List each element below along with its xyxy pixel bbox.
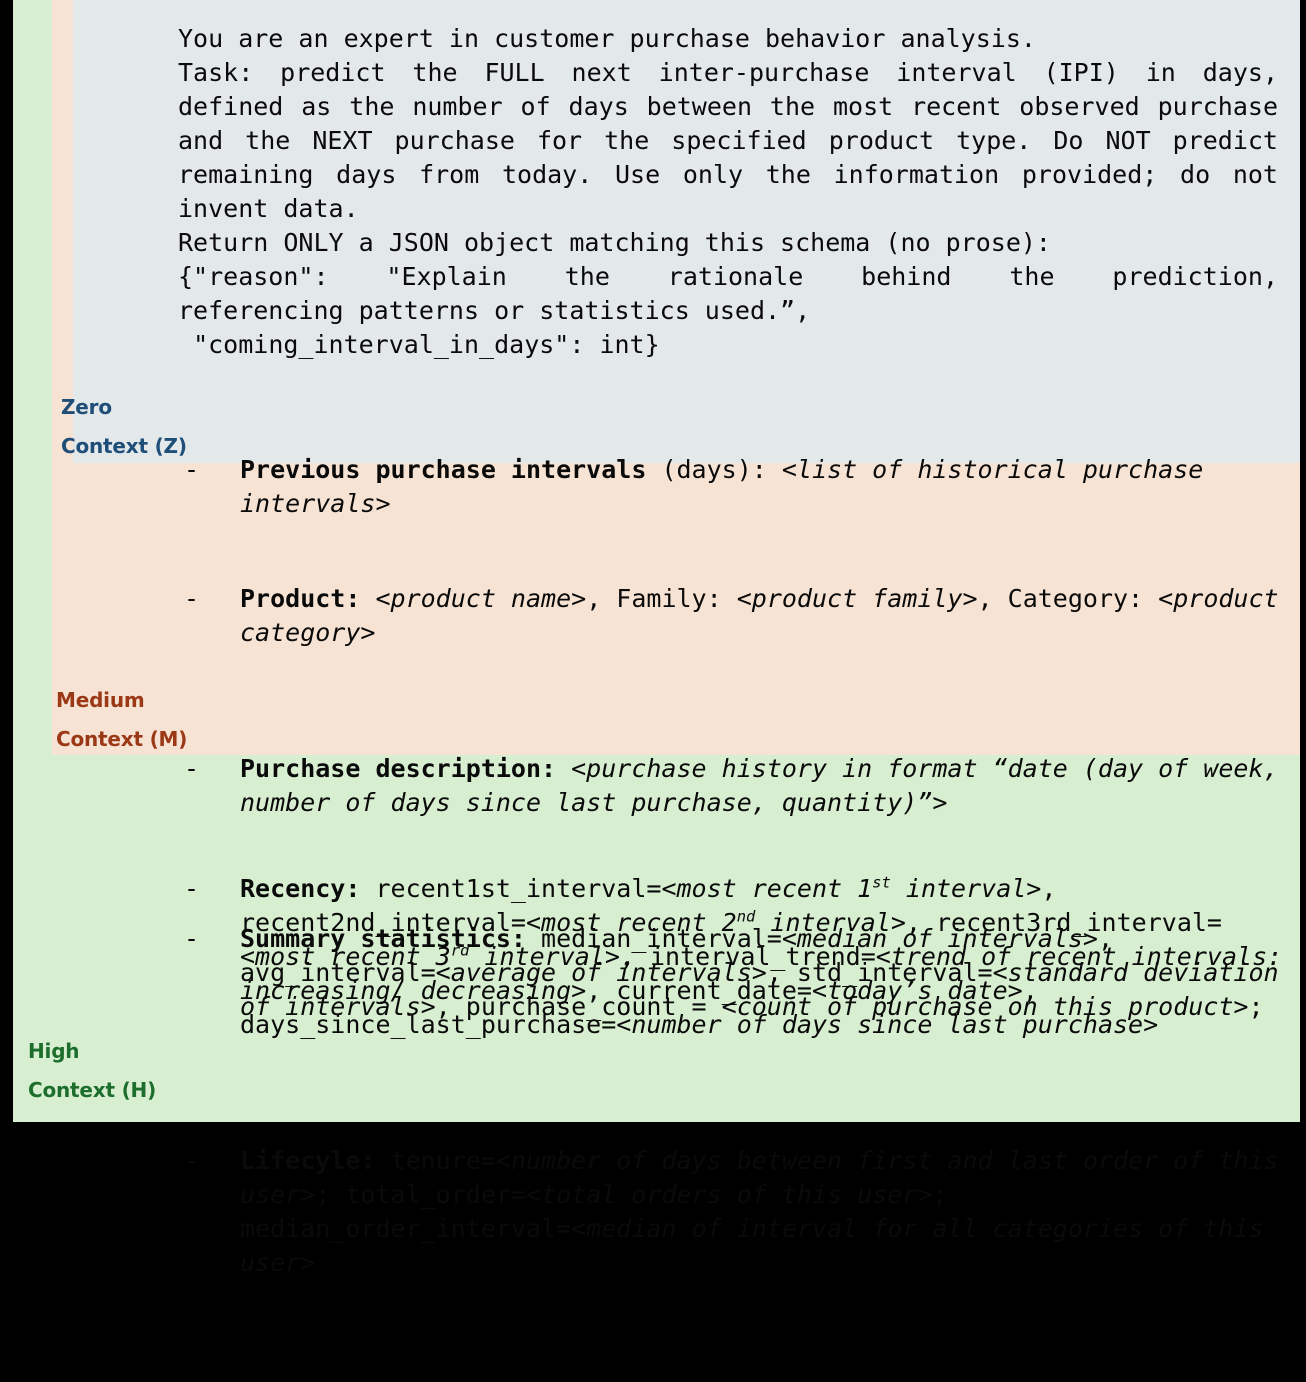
bullet-placeholder: <total orders of this user> — [526, 1180, 932, 1209]
ordinal-suffix: nd — [737, 908, 756, 926]
left-rail-high-context — [13, 0, 52, 1122]
bullet-placeholder: interval> — [469, 942, 620, 971]
bullet-text: ; total_order= — [315, 1180, 526, 1209]
list-item: - Recency: recent1st_interval=<most rece… — [178, 872, 1288, 1042]
bullet-placeholder: <most recent 3 — [240, 942, 451, 971]
bullet-placeholder: <product name> — [360, 584, 586, 613]
zero-context-preamble: You are an expert in customer purchase b… — [178, 22, 1278, 362]
bullet-dash: - — [178, 872, 240, 906]
label-high-context: High Context (H) — [28, 1032, 156, 1110]
bullet-text: , Family: — [586, 584, 737, 613]
label-zero-context: Zero Context (Z) — [61, 388, 187, 466]
bullet-text: , interval_trend= — [620, 942, 876, 971]
bullet-placeholder: interval> — [891, 874, 1042, 903]
bullet-placeholder: <product family> — [737, 584, 978, 613]
bullet-text: , recent3rd_interval= — [906, 908, 1222, 937]
label-zero-line2: Context (Z) — [61, 427, 187, 466]
bullet-text: , Category: — [978, 584, 1159, 613]
bullet-text: tenure= — [375, 1146, 495, 1175]
list-item: - Product: <product name>, Family: <prod… — [178, 582, 1288, 650]
bullet-label: Recency: — [240, 874, 360, 903]
bullet-text: , current_date= — [586, 976, 812, 1005]
list-item: - Lifecyle: tenure=<number of days betwe… — [178, 1144, 1288, 1280]
label-medium-line1: Medium — [56, 681, 187, 720]
bullet-body: Lifecyle: tenure=<number of days between… — [240, 1144, 1288, 1280]
label-high-line2: Context (H) — [28, 1071, 156, 1110]
bullet-text: recent1st_interval= — [360, 874, 661, 903]
bullet-placeholder: <most recent 1 — [661, 874, 872, 903]
bullet-dash: - — [178, 1144, 240, 1178]
bullet-label: Lifecyle: — [240, 1146, 375, 1175]
bullet-body: Recency: recent1st_interval=<most recent… — [240, 872, 1288, 1042]
bullet-placeholder: <most recent 2 — [526, 908, 737, 937]
ordinal-suffix: st — [872, 874, 891, 892]
label-medium-context: Medium Context (M) — [56, 681, 187, 759]
label-high-line1: High — [28, 1032, 156, 1071]
left-rail-medium-context — [52, 0, 73, 755]
bullet-placeholder: interval> — [755, 908, 906, 937]
bullet-label: Product: — [240, 584, 360, 613]
ordinal-suffix: rd — [451, 942, 470, 960]
label-zero-line1: Zero — [61, 388, 187, 427]
label-medium-line2: Context (M) — [56, 720, 187, 759]
bullet-placeholder: <today’s date> — [812, 976, 1023, 1005]
bullet-dash: - — [178, 582, 240, 616]
bullet-body: Product: <product name>, Family: <produc… — [240, 582, 1288, 650]
high-context-bullet-list: - Recency: recent1st_interval=<most rece… — [178, 770, 1288, 1382]
bullet-placeholder: <number of days since last purchase> — [616, 1010, 1158, 1039]
figure-canvas: Zero Context (Z) Medium Context (M) High… — [0, 0, 1306, 1132]
